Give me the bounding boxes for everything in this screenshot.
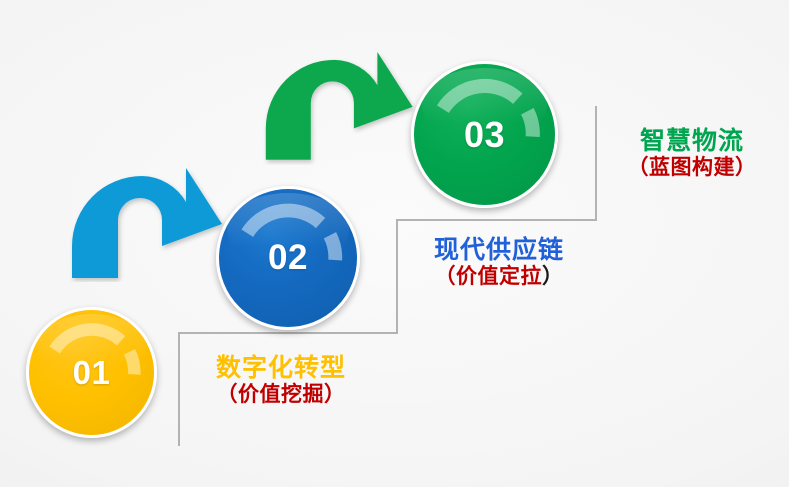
step-circle-02[interactable]: 02: [216, 186, 360, 330]
step-circle-01[interactable]: 01: [26, 307, 157, 438]
slide-canvas: 01 02 03 数字化转型 （价值挖掘） 现代供应链 （价值定拉） 智慧物流 …: [0, 0, 789, 487]
step-title-03: 智慧物流: [604, 127, 780, 156]
step-subtitle-01: （价值挖掘）: [186, 383, 376, 407]
step-label-02: 现代供应链 （价值定拉）: [404, 236, 594, 288]
connector-vertical-lower: [178, 333, 180, 446]
step-subtitle-03: （蓝图构建）: [604, 156, 780, 180]
step-number-01: 01: [73, 354, 111, 392]
step-circle-03[interactable]: 03: [411, 61, 558, 208]
step-subtitle-02: （价值定拉）: [404, 265, 594, 289]
connector-vertical-upper: [595, 106, 597, 220]
step-label-03: 智慧物流 （蓝图构建）: [604, 127, 780, 179]
connector-horizontal-middle: [396, 219, 597, 221]
step-title-02: 现代供应链: [404, 236, 594, 265]
connector-horizontal-lower: [178, 332, 398, 334]
step-subtitle-02-close-paren: ）: [542, 265, 564, 288]
connector-vertical-middle: [396, 220, 398, 333]
step-number-02: 02: [268, 238, 308, 278]
step-subtitle-02-main: （价值定拉: [435, 265, 543, 288]
step-title-01: 数字化转型: [186, 354, 376, 383]
step-label-01: 数字化转型 （价值挖掘）: [186, 354, 376, 406]
step-number-03: 03: [464, 114, 505, 156]
